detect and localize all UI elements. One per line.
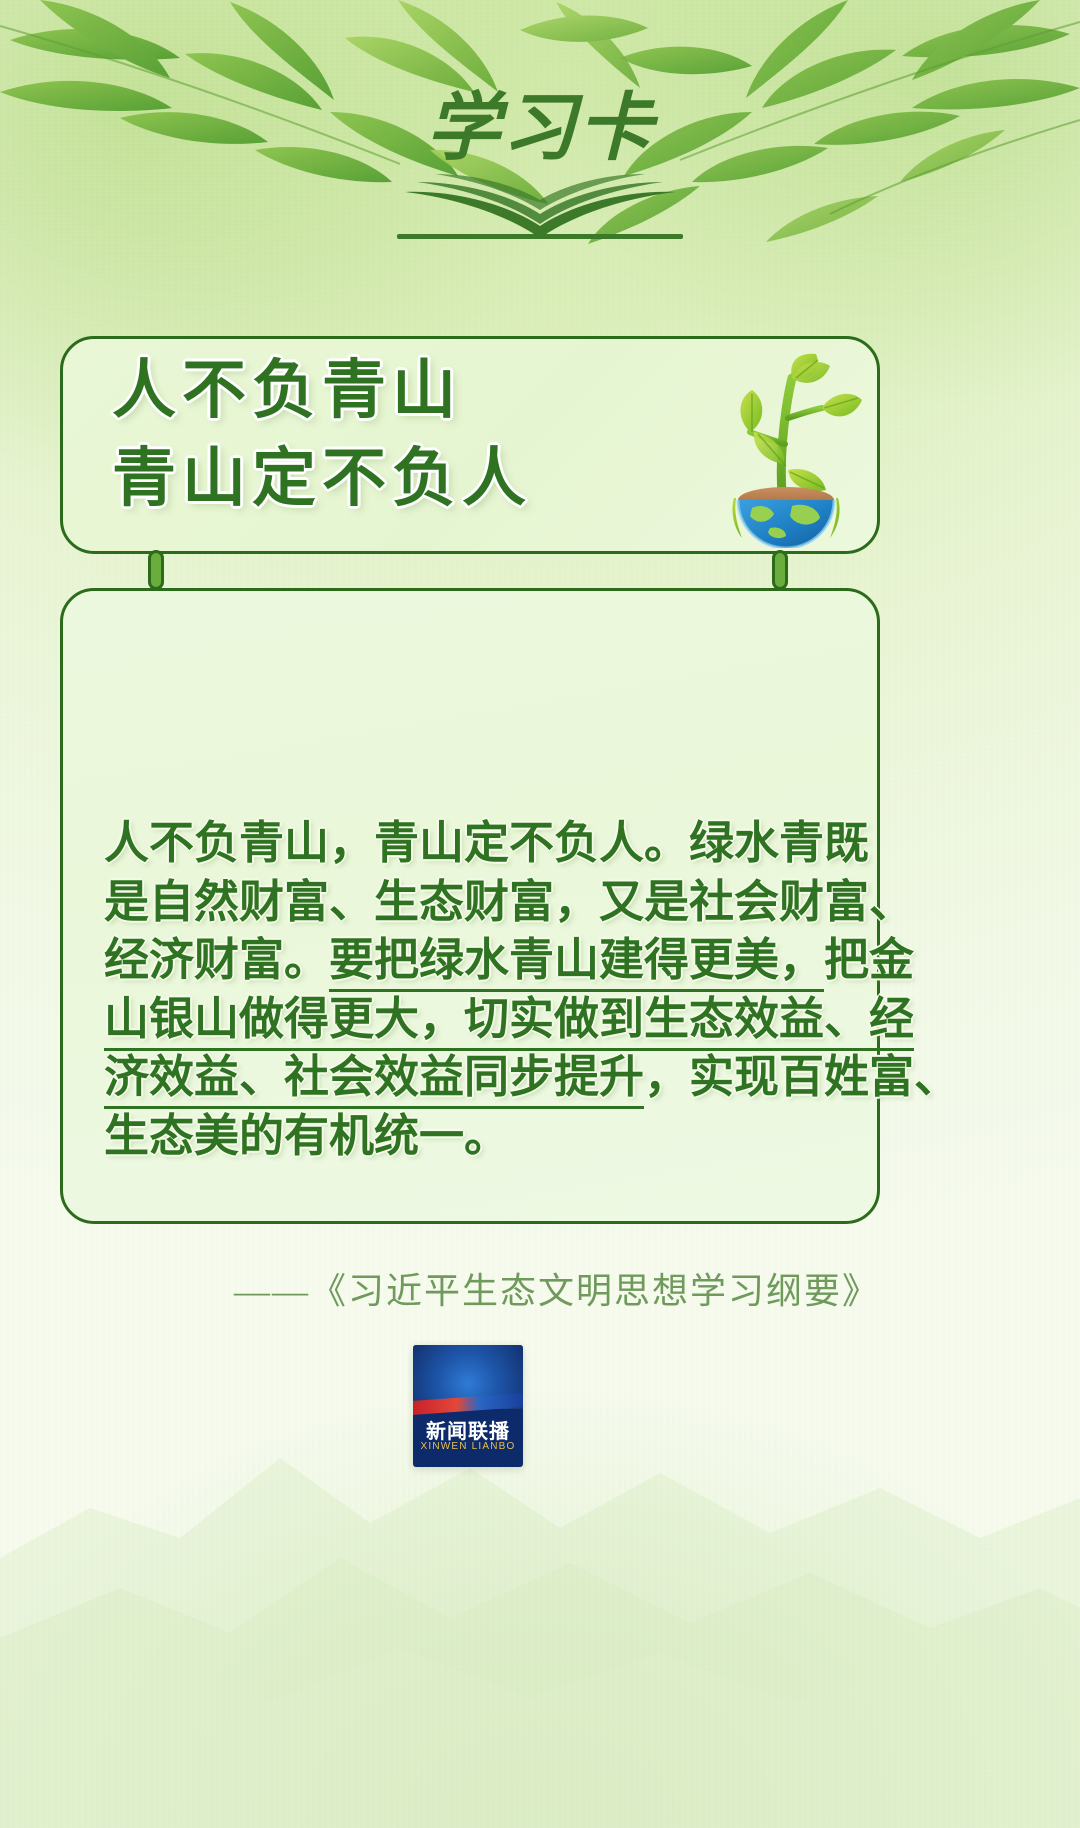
poster-title: 人不负青山 青山定不负人: [112, 358, 672, 510]
quote-line-6: 生态美的有机统一。: [104, 1107, 834, 1166]
quote-line-3-underlined: 要把绿水青山建得更美，: [329, 934, 824, 992]
open-book-icon: [395, 164, 685, 242]
logo-label: 学习卡: [375, 92, 705, 166]
quote-line-3-plain: 经济财富。: [104, 934, 329, 985]
xinwen-lianbo-badge: 新闻联播 XINWEN LIANBO: [413, 1345, 523, 1467]
header-logo: 学习卡: [0, 92, 1080, 242]
badge-cn-label: 新闻联播: [413, 1415, 523, 1444]
quote-line-4: 山银山做得更大，切实做到生态效益、经: [104, 990, 834, 1049]
quote-line-5-after: ，实现百姓富、: [644, 1051, 959, 1102]
quote-line-5: 济效益、社会效益同步提升，实现百姓富、: [104, 1048, 834, 1107]
badge-pinyin-label: XINWEN LIANBO: [413, 1441, 523, 1452]
quote-line-4-underlined: 山银山做得更大，切实做到生态效益、经: [104, 993, 914, 1051]
card-connector-left: [148, 550, 164, 590]
logo-wrap: 学习卡: [375, 92, 705, 242]
quote-line-2: 是自然财富、生态财富，又是社会财富、: [104, 873, 834, 932]
title-line-1: 人不负青山: [112, 358, 672, 422]
title-line-2: 青山定不负人: [112, 446, 672, 510]
quote-attribution: ——《习近平生态文明思想学习纲要》: [0, 1262, 880, 1314]
quote-line-1-text: 人不负青山，青山定不负人。绿水青既: [104, 817, 869, 868]
quote-line-1: 人不负青山，青山定不负人。绿水青既: [104, 814, 834, 873]
sapling-in-earth-globe-bowl-icon: [700, 352, 870, 548]
quote-line-3: 经济财富。要把绿水青山建得更美，把金: [104, 931, 834, 990]
quote-line-6-text: 生态美的有机统一。: [104, 1110, 509, 1161]
quote-line-2-text: 是自然财富、生态财富，又是社会财富、: [104, 876, 914, 927]
quote-line-3-after: 把金: [824, 934, 914, 985]
quote-text-block: 人不负青山，青山定不负人。绿水青既 是自然财富、生态财富，又是社会财富、 经济财…: [104, 814, 834, 1165]
quote-line-5-underlined: 济效益、社会效益同步提升: [104, 1051, 644, 1109]
card-connector-right: [772, 550, 788, 590]
